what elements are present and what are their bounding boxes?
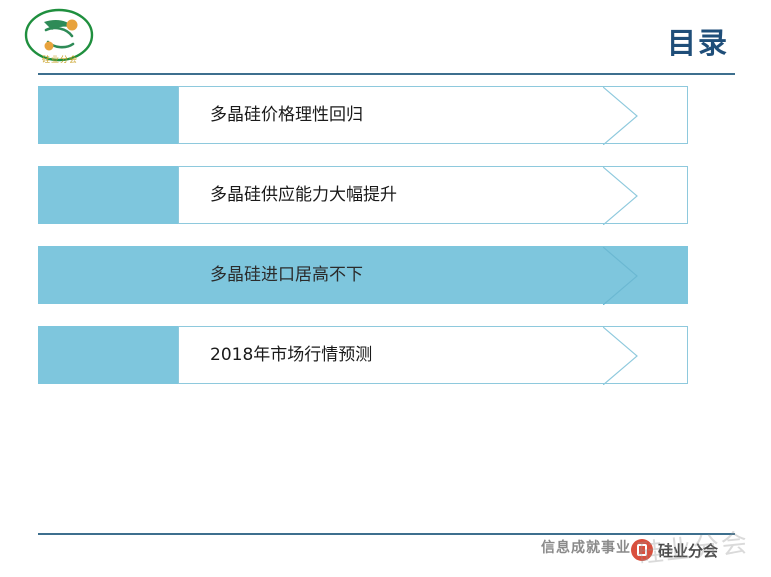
agenda-arrow-block bbox=[38, 326, 178, 384]
agenda-item-1[interactable]: 多晶硅价格理性回归 bbox=[0, 86, 771, 144]
agenda-item-3[interactable]: 多晶硅进口居高不下 bbox=[0, 246, 771, 304]
slide-header: 硅业分会 目录 bbox=[0, 0, 771, 78]
agenda-item-label: 2018年市场行情预测 bbox=[210, 326, 372, 384]
agenda-item-label: 多晶硅进口居高不下 bbox=[210, 246, 363, 304]
agenda-item-4[interactable]: 2018年市场行情预测 bbox=[0, 326, 771, 384]
banner-chevron-icon bbox=[603, 247, 639, 305]
footer-badge: 硅业分会 bbox=[631, 534, 751, 566]
banner-chevron-icon bbox=[603, 327, 639, 385]
agenda-item-2[interactable]: 多晶硅供应能力大幅提升 bbox=[0, 166, 771, 224]
banner-chevron-icon bbox=[603, 87, 639, 145]
banner-chevron-icon bbox=[603, 167, 639, 225]
agenda-arrow-block bbox=[38, 166, 178, 224]
logo: 硅业分会 bbox=[22, 8, 96, 70]
agenda-arrow-block bbox=[38, 246, 178, 304]
agenda-item-label: 多晶硅供应能力大幅提升 bbox=[210, 166, 397, 224]
page-title: 目录 bbox=[667, 20, 729, 62]
header-divider bbox=[38, 73, 735, 75]
agenda-arrow-block bbox=[38, 86, 178, 144]
wechat-badge-icon bbox=[631, 539, 653, 561]
footer-slogan: 信息成就事业 bbox=[541, 537, 631, 557]
agenda-list: 多晶硅价格理性回归 多晶硅供应能力大幅提升 多晶硅进口居高不下 bbox=[0, 86, 771, 406]
agenda-item-label: 多晶硅价格理性回归 bbox=[210, 86, 363, 144]
logo-caption: 硅业分会 bbox=[26, 54, 94, 65]
footer-badge-text: 硅业分会 bbox=[658, 540, 718, 561]
